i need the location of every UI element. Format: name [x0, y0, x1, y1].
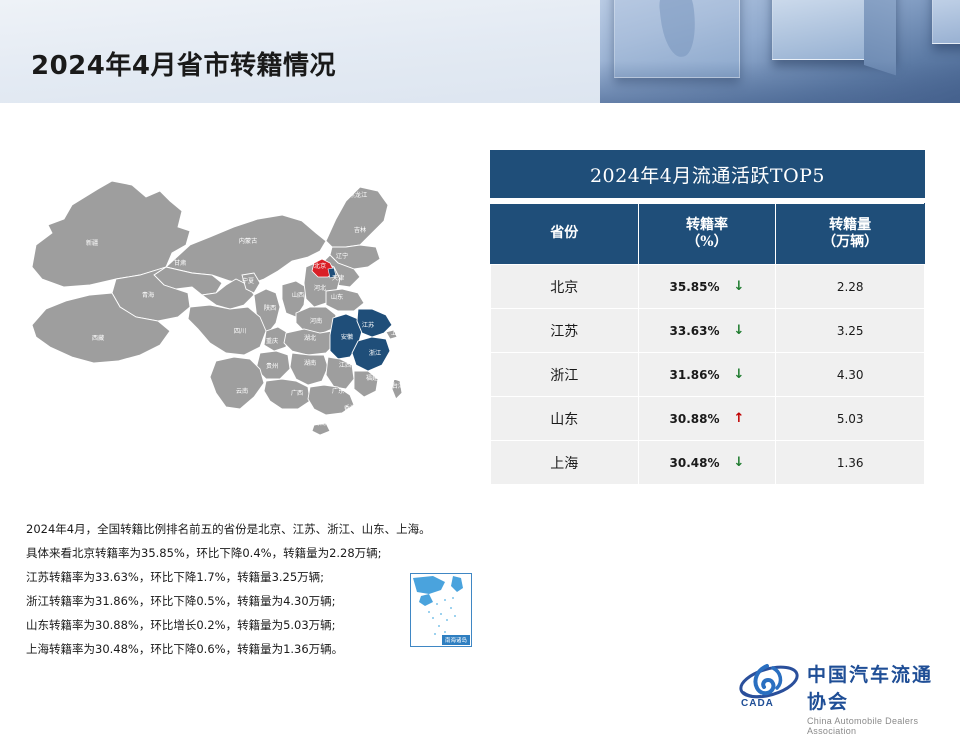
map-label-2: 青海 [142, 291, 154, 299]
cell-rate: 35.85%↓ [638, 265, 776, 309]
header-decoration-image [600, 0, 960, 103]
cell-volume: 2.28 [776, 265, 925, 309]
column-header-volume-line2: （万辆） [777, 234, 923, 252]
map-region-sichuan [188, 305, 266, 355]
cell-province: 浙江 [491, 353, 639, 397]
map-label-19: 浙江 [369, 349, 381, 357]
cell-province: 江苏 [491, 309, 639, 353]
map-label-7: 辽宁 [336, 252, 348, 260]
cada-logo: CADA 中国汽车流通协会 China Automobile Dealers A… [737, 660, 947, 712]
table-body: 北京35.85%↓2.28江苏33.63%↓3.25浙江31.86%↓4.30山… [491, 265, 925, 485]
rate-value: 33.63% [670, 324, 720, 338]
china-map-svg: 新疆西藏青海甘肃内蒙古黑龙江吉林辽宁北京天津河北山西山东陕西宁夏河南江苏安徽上海… [20, 175, 470, 485]
table-title: 2024年4月流通活跃TOP5 [491, 151, 925, 198]
map-label-18: 上海 [391, 329, 403, 337]
map-label-9: 天津 [332, 274, 344, 282]
map-label-5: 黑龙江 [349, 191, 368, 199]
rate-value: 35.85% [670, 280, 720, 294]
map-label-15: 河南 [310, 317, 322, 325]
rate-value: 30.88% [670, 412, 720, 426]
header-band: 2024年4月省市转籍情况 [0, 0, 960, 103]
map-label-29: 广东 [332, 387, 344, 395]
map-label-1: 西藏 [92, 334, 104, 342]
cell-province: 上海 [491, 441, 639, 485]
arrow-up-icon: ↑ [734, 412, 745, 425]
map-label-22: 重庆 [266, 337, 278, 345]
table-row: 浙江31.86%↓4.30 [491, 353, 925, 397]
cell-rate: 30.48%↓ [638, 441, 776, 485]
cada-logo-cn: 中国汽车流通协会 [807, 660, 947, 714]
summary-line-1: 具体来看北京转籍率为35.85%，环比下降0.4%，转籍量为2.28万辆; [26, 541, 546, 565]
column-header-rate-line1: 转籍率 [640, 217, 775, 235]
cell-province: 北京 [491, 265, 639, 309]
map-provinces-base [32, 181, 402, 435]
page-title: 2024年4月省市转籍情况 [31, 45, 336, 82]
map-label-16: 江苏 [362, 321, 374, 329]
table-row: 上海30.48%↓1.36 [491, 441, 925, 485]
column-header-province: 省份 [491, 204, 639, 265]
cell-volume: 4.30 [776, 353, 925, 397]
cell-volume: 3.25 [776, 309, 925, 353]
map-label-11: 山西 [292, 291, 304, 299]
deco-cube-3 [932, 0, 960, 44]
map-label-32: 香港 [344, 404, 357, 412]
column-header-volume-line1: 转籍量 [777, 217, 923, 235]
cell-province: 山东 [491, 397, 639, 441]
map-label-17: 安徽 [341, 333, 354, 341]
map-label-31: 台湾 [392, 382, 404, 390]
deco-continent-shape [657, 0, 698, 59]
map-region-hubei [284, 329, 336, 355]
map-label-3: 甘肃 [174, 259, 186, 267]
deco-floor-shadow [600, 61, 960, 103]
cell-rate: 30.88%↑ [638, 397, 776, 441]
map-label-20: 湖北 [304, 334, 317, 342]
column-header-rate: 转籍率 （%） [638, 204, 776, 265]
cell-volume: 5.03 [776, 397, 925, 441]
cada-wordmark: CADA [741, 698, 774, 708]
summary-line-4: 山东转籍率为30.88%，环比增长0.2%，转籍量为5.03万辆; [26, 613, 546, 637]
summary-line-2: 江苏转籍率为33.63%，环比下降1.7%，转籍量3.25万辆; [26, 565, 546, 589]
arrow-down-icon: ↓ [734, 280, 745, 293]
map-label-10: 河北 [314, 284, 327, 292]
column-header-volume: 转籍量 （万辆） [776, 204, 925, 265]
rate-value: 31.86% [670, 368, 720, 382]
cell-rate: 31.86%↓ [638, 353, 776, 397]
map-label-25: 福建 [366, 374, 378, 382]
deco-cube-2 [772, 0, 896, 60]
table-row: 江苏33.63%↓3.25 [491, 309, 925, 353]
top5-table: 2024年4月流通活跃TOP5 省份 转籍率 （%） 转籍量 （万辆） 北京35… [490, 150, 925, 485]
map-label-21: 四川 [234, 328, 246, 335]
summary-paragraph: 2024年4月，全国转籍比例排名前五的省份是北京、江苏、浙江、山东、上海。具体来… [26, 517, 546, 661]
map-label-27: 云南 [236, 387, 248, 395]
column-header-rate-line2: （%） [640, 234, 775, 252]
map-label-24: 江西 [339, 362, 351, 369]
cada-swirl-icon: CADA [737, 662, 801, 708]
map-label-26: 贵州 [266, 362, 278, 370]
summary-line-5: 上海转籍率为30.48%，环比下降0.6%，转籍量为1.36万辆。 [26, 637, 546, 661]
rate-value: 30.48% [670, 456, 720, 470]
arrow-down-icon: ↓ [734, 456, 745, 469]
column-header-province-line1: 省份 [492, 225, 637, 243]
cada-logo-mark-icon: CADA [737, 662, 801, 708]
cell-volume: 1.36 [776, 441, 925, 485]
map-label-6: 吉林 [354, 226, 366, 234]
table-row: 北京35.85%↓2.28 [491, 265, 925, 309]
table-row: 山东30.88%↑5.03 [491, 397, 925, 441]
map-label-30: 海南 [314, 419, 326, 427]
map-label-4: 内蒙古 [239, 237, 258, 245]
map-region-hunan [290, 353, 328, 385]
map-label-0: 新疆 [86, 239, 98, 247]
map-label-8: 北京 [314, 262, 326, 270]
map-label-14: 宁夏 [242, 277, 254, 285]
arrow-down-icon: ↓ [734, 324, 745, 337]
map-label-13: 陕西 [264, 304, 276, 312]
map-label-23: 湖南 [304, 359, 316, 367]
map-label-28: 广西 [291, 389, 303, 397]
summary-line-3: 浙江转籍率为31.86%，环比下降0.5%，转籍量为4.30万辆; [26, 589, 546, 613]
cada-logo-text: 中国汽车流通协会 China Automobile Dealers Associ… [807, 660, 947, 736]
table-header-row: 省份 转籍率 （%） 转籍量 （万辆） [491, 204, 925, 265]
arrow-down-icon: ↓ [734, 368, 745, 381]
table-title-row: 2024年4月流通活跃TOP5 [491, 151, 925, 198]
cada-logo-en: China Automobile Dealers Association [807, 716, 947, 736]
cell-rate: 33.63%↓ [638, 309, 776, 353]
map-label-33: 澳门 [299, 416, 311, 424]
map-label-12: 山东 [331, 293, 343, 301]
summary-line-0: 2024年4月，全国转籍比例排名前五的省份是北京、江苏、浙江、山东、上海。 [26, 517, 546, 541]
map-region-yunnan [210, 357, 264, 409]
china-map: 新疆西藏青海甘肃内蒙古黑龙江吉林辽宁北京天津河北山西山东陕西宁夏河南江苏安徽上海… [20, 175, 470, 485]
